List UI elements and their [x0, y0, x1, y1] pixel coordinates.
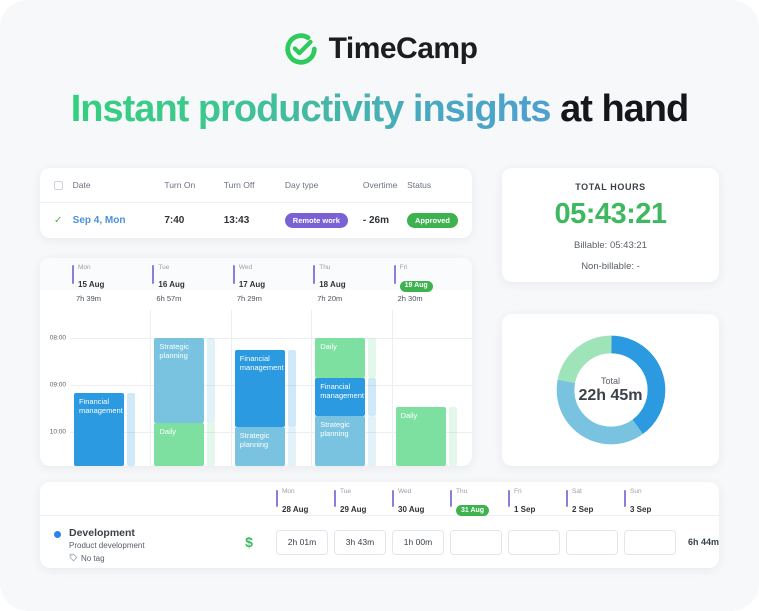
calendar-event-ghost	[368, 378, 376, 416]
calendar-day-duration: 6h 57m	[150, 290, 230, 310]
day-name: Mon	[78, 264, 91, 271]
timesheet-day-header[interactable]: Tue29 Aug	[334, 482, 392, 515]
attendance-table-card: Date Turn On Turn Off Day type Overtime …	[40, 168, 472, 238]
column-header-overtime: Overtime	[363, 180, 407, 190]
time-entry-input[interactable]: 1h 00m	[392, 530, 444, 555]
donut-value: 22h 45m	[578, 387, 642, 405]
day-accent-bar	[152, 265, 154, 284]
headline-dark-text: at hand	[551, 88, 689, 130]
grid-hline	[70, 338, 472, 339]
day-name: Thu	[319, 264, 330, 271]
calendar-event-ghost	[449, 407, 457, 466]
grid-vline	[311, 310, 312, 466]
day-date: 18 Aug	[319, 280, 345, 289]
time-entry-input[interactable]	[508, 530, 560, 555]
calendar-event[interactable]: Strategic planning	[154, 338, 204, 423]
day-date: 29 Aug	[340, 505, 366, 514]
time-entry-input[interactable]	[624, 530, 676, 555]
row-overtime: - 26m	[363, 215, 389, 226]
tag-icon	[69, 553, 78, 564]
day-name: Mon	[282, 488, 295, 495]
day-date: 15 Aug	[78, 280, 104, 289]
calendar-event[interactable]: Strategic planning	[315, 416, 365, 466]
page-title: Instant productivity insights at hand	[0, 88, 759, 131]
day-name: Sat	[572, 488, 582, 495]
day-name: Thu	[456, 488, 467, 495]
row-turn-off: 13:43	[224, 215, 250, 226]
timesheet-day-header[interactable]: Fri1 Sep	[508, 482, 566, 515]
calendar-day-header[interactable]: Fri19 Aug	[392, 258, 472, 290]
calendar-event[interactable]: Strategic planning	[235, 427, 285, 466]
calendar-day-header[interactable]: Thu18 Aug	[311, 258, 391, 290]
calendar-event[interactable]: Financial management	[74, 393, 124, 466]
day-name: Fri	[400, 264, 408, 271]
day-date: 2 Sep	[572, 505, 593, 514]
weekly-calendar-card: Mon15 AugTue16 AugWed17 AugThu18 AugFri1…	[40, 258, 472, 466]
day-date: 30 Aug	[398, 505, 424, 514]
page-root: TimeCamp Instant productivity insights a…	[0, 0, 759, 611]
column-header-day-type: Day type	[285, 180, 363, 190]
calendar-event-ghost	[368, 416, 376, 466]
calendar-events-area[interactable]: Financial managementStrategic planningDa…	[70, 310, 472, 466]
day-accent-bar	[392, 490, 394, 507]
donut-center-text: Total 22h 45m	[578, 376, 642, 405]
column-header-turn-off: Turn Off	[224, 180, 285, 190]
time-entry-input[interactable]	[566, 530, 618, 555]
total-hours-card: TOTAL HOURS 05:43:21 Billable: 05:43:21 …	[502, 168, 719, 282]
day-date: 17 Aug	[239, 280, 265, 289]
time-tick-label: 10:00	[50, 429, 66, 436]
task-project: Product development	[69, 541, 145, 550]
task-title: Development	[69, 527, 145, 539]
column-header-turn-on: Turn On	[164, 180, 223, 190]
day-accent-bar	[313, 265, 315, 284]
day-accent-bar	[334, 490, 336, 507]
day-date: 31 Aug	[456, 505, 489, 516]
calendar-day-duration: 7h 39m	[70, 290, 150, 310]
calendar-event-ghost	[288, 427, 296, 466]
calendar-day-headers: Mon15 AugTue16 AugWed17 AugThu18 AugFri1…	[40, 258, 472, 290]
day-type-badge: Remote work	[285, 213, 348, 228]
brand-name: TimeCamp	[329, 32, 478, 66]
donut-label: Total	[578, 376, 642, 386]
billable-hours: Billable: 05:43:21	[502, 240, 719, 251]
timesheet-day-header[interactable]: Thu31 Aug	[450, 482, 508, 515]
calendar-time-axis: 08:0009:0010:00	[40, 310, 70, 466]
day-accent-bar	[72, 265, 74, 284]
calendar-event-ghost	[207, 338, 215, 423]
day-date: 3 Sep	[630, 505, 651, 514]
day-accent-bar	[276, 490, 278, 507]
time-entry-input[interactable]: 2h 01m	[276, 530, 328, 555]
timecamp-check-circle-icon	[282, 30, 320, 68]
checkmark-icon: ✓	[54, 216, 64, 226]
column-header-status: Status	[407, 180, 458, 190]
day-name: Wed	[239, 264, 252, 271]
time-entry-input[interactable]: 3h 43m	[334, 530, 386, 555]
calendar-event[interactable]: Financial management	[235, 350, 285, 427]
day-accent-bar	[233, 265, 235, 284]
calendar-event-ghost	[127, 393, 135, 466]
calendar-event[interactable]: Financial management	[315, 378, 365, 416]
day-date: 28 Aug	[282, 505, 308, 514]
calendar-day-durations: 7h 39m6h 57m7h 29m7h 20m2h 30m	[40, 290, 472, 310]
day-accent-bar	[450, 490, 452, 507]
table-header-row: Date Turn On Turn Off Day type Overtime …	[40, 168, 472, 203]
timesheet-day-headers: Mon28 AugTue29 AugWed30 AugThu31 AugFri1…	[40, 482, 719, 516]
timesheet-day-header[interactable]: Mon28 Aug	[276, 482, 334, 515]
calendar-event-ghost	[368, 338, 376, 378]
total-hours-value: 05:43:21	[502, 198, 719, 231]
calendar-grid-body: 08:0009:0010:00 Financial managementStra…	[40, 310, 472, 466]
select-all-checkbox[interactable]	[54, 181, 73, 190]
timesheet-entry-inputs: 2h 01m3h 43m1h 00m	[276, 530, 676, 555]
timesheet-day-header[interactable]: Wed30 Aug	[392, 482, 450, 515]
total-hours-title: TOTAL HOURS	[502, 182, 719, 192]
timesheet-card: Mon28 AugTue29 AugWed30 AugThu31 AugFri1…	[40, 482, 719, 568]
timesheet-day-header[interactable]: Sun3 Sep	[624, 482, 682, 515]
day-date: 1 Sep	[514, 505, 535, 514]
non-billable-hours: Non-billable: -	[502, 261, 719, 272]
calendar-day-header[interactable]: Mon15 Aug	[70, 258, 150, 290]
column-header-date: Date	[73, 180, 165, 190]
grid-vline	[150, 310, 151, 466]
brand-logo: TimeCamp	[0, 30, 759, 68]
row-date-link[interactable]: Sep 4, Mon	[73, 215, 126, 226]
timesheet-row-total: 6h 44m	[688, 537, 719, 547]
day-name: Fri	[514, 488, 522, 495]
calendar-event[interactable]: Daily	[315, 338, 365, 378]
day-name: Tue	[158, 264, 169, 271]
calendar-event-ghost	[207, 423, 215, 466]
day-name: Wed	[398, 488, 411, 495]
time-tick-label: 09:00	[50, 382, 66, 389]
calendar-event-ghost	[288, 350, 296, 427]
grid-vline	[231, 310, 232, 466]
grid-vline	[392, 310, 393, 466]
table-row[interactable]: ✓ Sep 4, Mon 7:40 13:43 Remote work - 26…	[40, 203, 472, 238]
calendar-day-header[interactable]: Tue16 Aug	[150, 258, 230, 290]
calendar-event[interactable]: Daily	[154, 423, 204, 466]
timesheet-day-header[interactable]: Sat2 Sep	[566, 482, 624, 515]
checkbox-icon	[54, 181, 63, 190]
day-accent-bar	[624, 490, 626, 507]
calendar-event[interactable]: Daily	[396, 407, 446, 466]
calendar-day-duration: 2h 30m	[392, 290, 472, 310]
status-badge: Approved	[407, 213, 458, 228]
day-name: Tue	[340, 488, 351, 495]
row-checkbox[interactable]: ✓	[54, 216, 73, 226]
calendar-day-duration: 7h 20m	[311, 290, 391, 310]
headline-gradient-text: Instant productivity insights	[71, 88, 551, 130]
time-entry-input[interactable]	[450, 530, 502, 555]
day-accent-bar	[508, 490, 510, 507]
dollar-icon[interactable]: $	[222, 534, 276, 550]
timesheet-task-info[interactable]: Development Product development No tag	[40, 521, 222, 564]
calendar-day-header[interactable]: Wed17 Aug	[231, 258, 311, 290]
time-distribution-donut-card: Total 22h 45m	[502, 314, 719, 466]
task-tag[interactable]: No tag	[69, 553, 145, 564]
project-color-dot	[54, 531, 61, 538]
calendar-day-duration: 7h 29m	[231, 290, 311, 310]
time-tick-label: 08:00	[50, 335, 66, 342]
row-turn-on: 7:40	[164, 215, 184, 226]
task-tag-label: No tag	[81, 554, 105, 563]
day-date: 16 Aug	[158, 280, 184, 289]
day-accent-bar	[394, 265, 396, 284]
day-accent-bar	[566, 490, 568, 507]
day-name: Sun	[630, 488, 642, 495]
timesheet-row: Development Product development No tag $…	[40, 516, 719, 568]
